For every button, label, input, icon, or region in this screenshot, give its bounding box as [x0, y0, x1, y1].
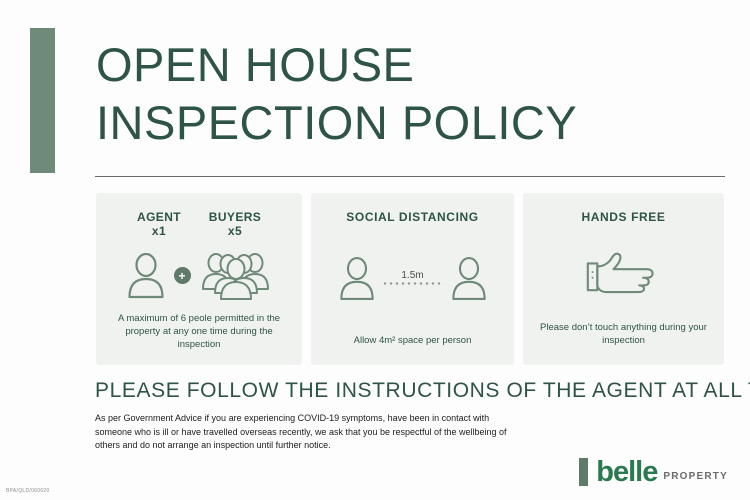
agent-label: AGENT: [123, 210, 195, 224]
card-occupancy-caption: A maximum of 6 peole permitted in the pr…: [96, 312, 302, 365]
header-divider: [95, 176, 725, 177]
agent-count: x1: [123, 224, 195, 239]
card-social-distancing-icons: 1.5m: [311, 224, 514, 334]
dots-graphic: [382, 282, 444, 285]
logo-subtext: PROPERTY: [663, 471, 728, 486]
accent-bar: [30, 28, 55, 173]
card-hands-free-caption: Please don’t touch anything during your …: [523, 321, 724, 365]
card-occupancy-headings: AGENT x1 BUYERS x5: [96, 210, 302, 239]
hands-free-label: HANDS FREE: [581, 210, 665, 224]
card-occupancy: AGENT x1 BUYERS x5 +: [96, 193, 302, 365]
agent-heading: AGENT x1: [123, 210, 195, 239]
social-distancing-label: SOCIAL DISTANCING: [346, 210, 478, 224]
card-social-distancing-caption: Allow 4m² space per person: [311, 334, 514, 365]
reference-code: BPA/QLD/060620: [6, 488, 50, 494]
logo-wordmark: belle: [596, 458, 657, 486]
people-group-icon: [199, 251, 273, 301]
buyers-heading: BUYERS x5: [195, 210, 275, 239]
distance-label: 1.5m: [401, 270, 423, 281]
buyers-label: BUYERS: [195, 210, 275, 224]
hand-stop-icon: [584, 249, 664, 297]
person-icon: [450, 257, 488, 301]
page-title: OPEN HOUSE INSPECTION POLICY: [96, 36, 716, 152]
dotted-distance-line: 1.5m: [382, 270, 444, 289]
card-hands-free: HANDS FREE Please don’t touch anything d…: [523, 193, 724, 365]
plus-badge-icon: +: [174, 267, 191, 284]
card-hands-free-icons: [523, 224, 724, 321]
belle-property-logo: belle PROPERTY: [579, 458, 728, 486]
card-social-distancing: SOCIAL DISTANCING 1.5m: [311, 193, 514, 365]
person-icon: [338, 257, 376, 301]
call-to-action: PLEASE FOLLOW THE INSTRUCTIONS OF THE AG…: [95, 379, 750, 403]
title-line-1: OPEN HOUSE: [96, 36, 716, 94]
info-card-row: AGENT x1 BUYERS x5 +: [96, 193, 724, 365]
title-line-2: INSPECTION POLICY: [96, 94, 716, 152]
buyers-count: x5: [195, 224, 275, 239]
card-occupancy-icons: +: [96, 239, 302, 312]
government-advice-note: As per Government Advice if you are expe…: [95, 412, 520, 453]
logo-bar-icon: [579, 458, 588, 486]
poster-canvas: OPEN HOUSE INSPECTION POLICY AGENT x1 BU…: [0, 0, 750, 500]
person-icon: [126, 253, 166, 299]
